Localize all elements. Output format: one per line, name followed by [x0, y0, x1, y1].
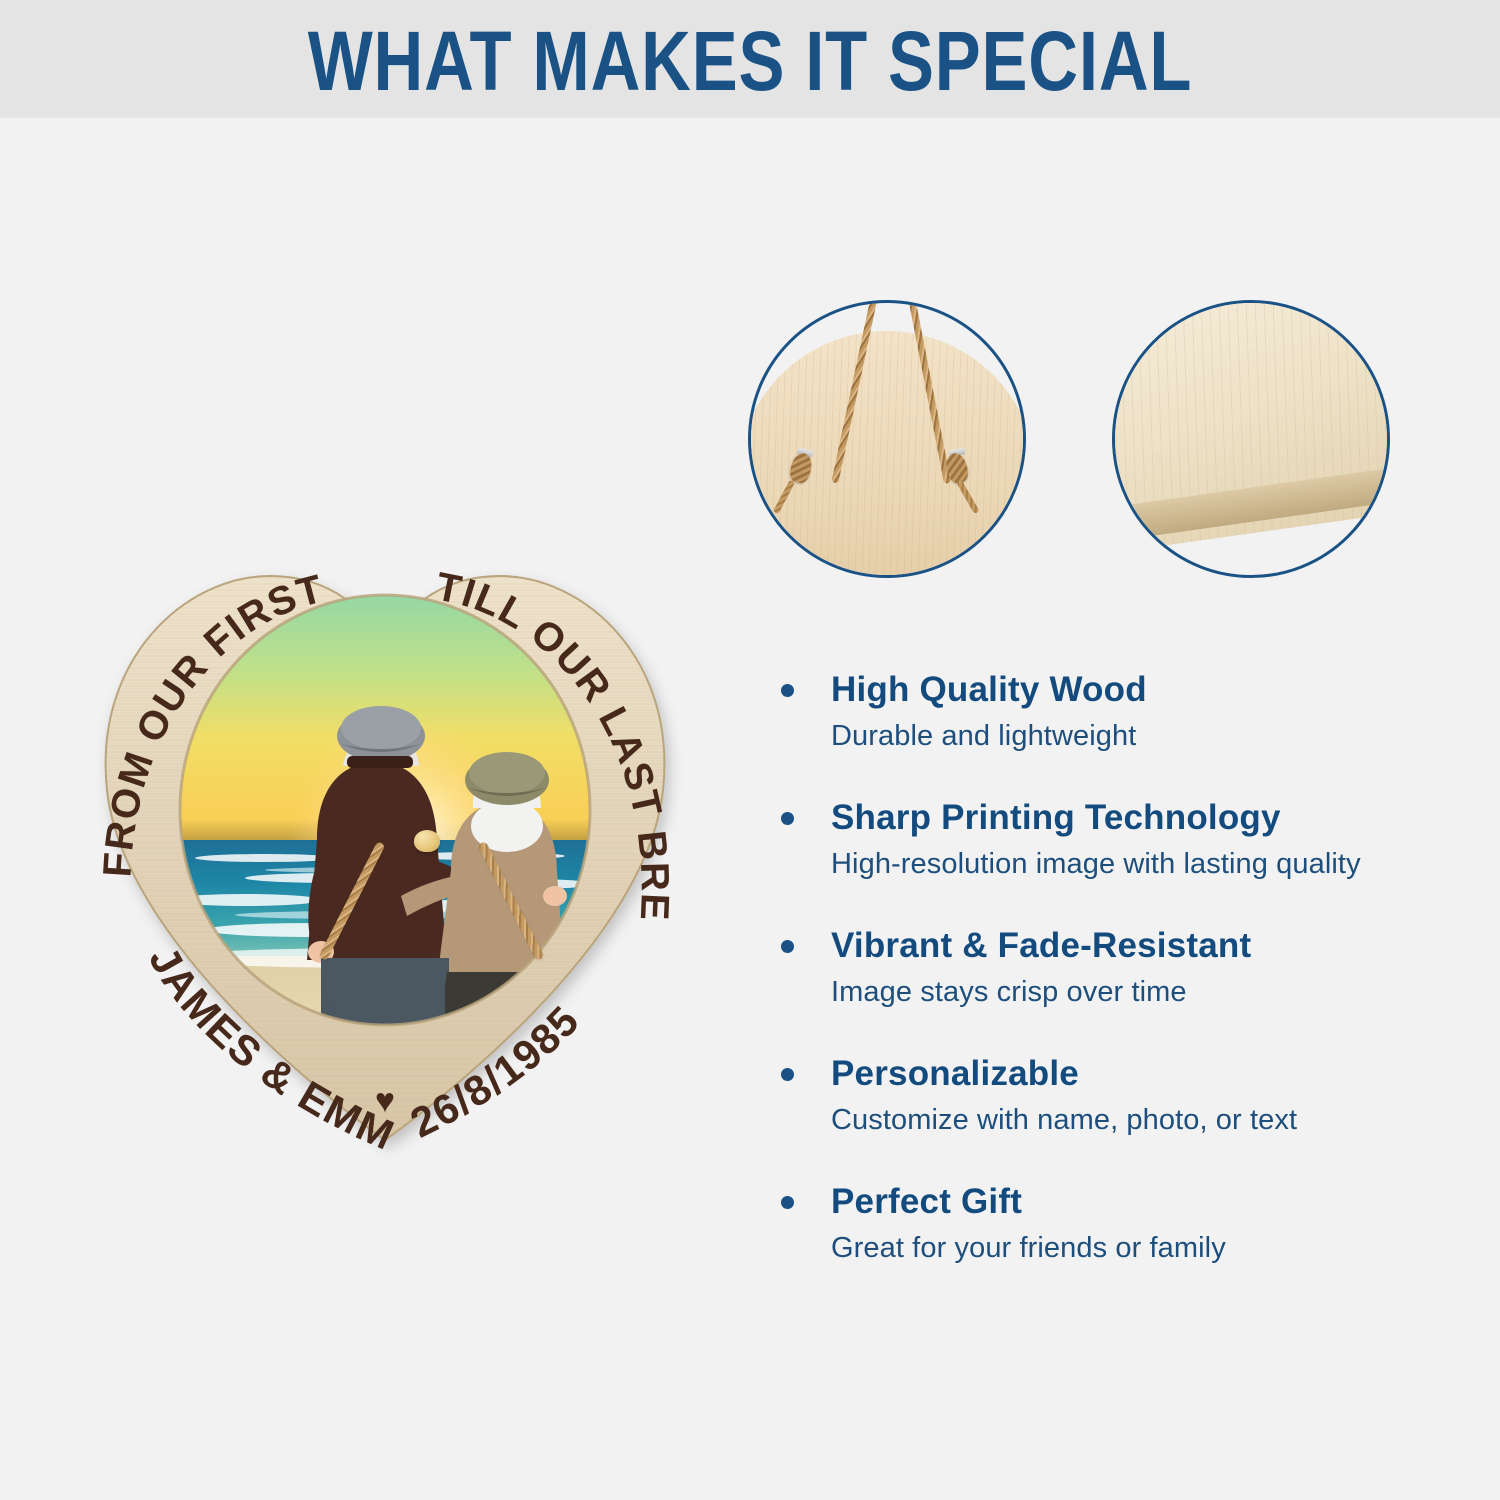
bullet-icon: [781, 812, 794, 825]
detail-circle-rope-hanger: [748, 300, 1026, 578]
feature-item: Sharp Printing Technology High-resolutio…: [775, 796, 1475, 884]
feature-title: High Quality Wood: [831, 668, 1475, 712]
feature-title: Sharp Printing Technology: [831, 796, 1475, 840]
feature-title: Vibrant & Fade-Resistant: [831, 924, 1475, 968]
detail-circle-wood-edge: [1112, 300, 1390, 578]
feature-item: Perfect Gift Great for your friends or f…: [775, 1180, 1475, 1268]
feature-list: High Quality Wood Durable and lightweigh…: [775, 668, 1475, 1308]
detail-wood-panel: [748, 331, 1026, 578]
product-image: FROM OUR FIRST KISS TILL OUR LAST BREATH…: [40, 400, 720, 1180]
feature-description: Customize with name, photo, or text: [831, 1100, 1475, 1140]
page-title: WHAT MAKES IT SPECIAL: [135, 18, 1365, 104]
feature-description: Great for your friends or family: [831, 1228, 1475, 1268]
bullet-icon: [781, 1068, 794, 1081]
feature-description: High-resolution image with lasting quali…: [831, 844, 1475, 884]
feature-description: Image stays crisp over time: [831, 972, 1475, 1012]
heart-sign: [85, 540, 685, 1140]
bullet-icon: [781, 684, 794, 697]
rope-detail-inner: [751, 303, 1023, 575]
feature-item: Vibrant & Fade-Resistant Image stays cri…: [775, 924, 1475, 1012]
hanger-peg: [414, 830, 440, 852]
bullet-icon: [781, 1196, 794, 1209]
feature-title: Perfect Gift: [831, 1180, 1475, 1224]
feature-description: Durable and lightweight: [831, 716, 1475, 756]
wood-edge-detail-inner: [1115, 303, 1387, 575]
feature-item: Personalizable Customize with name, phot…: [775, 1052, 1475, 1140]
feature-title: Personalizable: [831, 1052, 1475, 1096]
bullet-icon: [781, 940, 794, 953]
feature-item: High Quality Wood Durable and lightweigh…: [775, 668, 1475, 756]
